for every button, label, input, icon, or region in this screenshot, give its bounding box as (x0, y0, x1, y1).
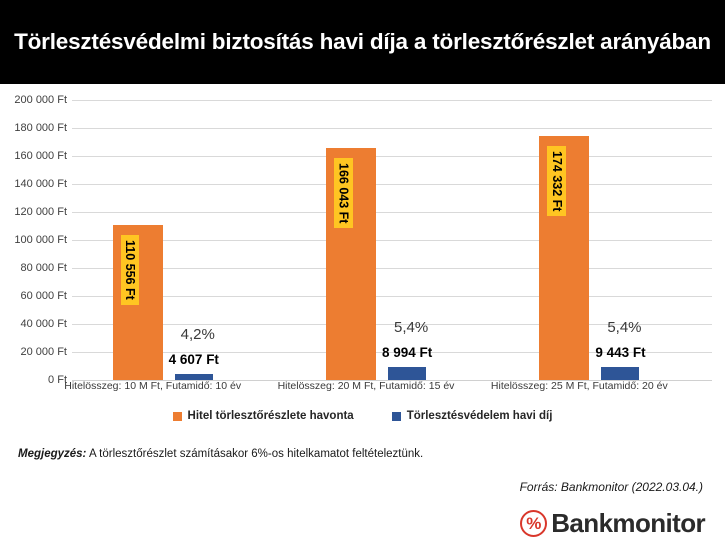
chart-header-band: Törlesztésvédelmi biztosítás havi díja a… (0, 0, 725, 84)
logo-wordmark: Bankmonitor (551, 508, 705, 539)
y-axis: 200 000 Ft180 000 Ft160 000 Ft140 000 Ft… (0, 84, 72, 396)
y-axis-tick-label: 80 000 Ft (21, 262, 67, 274)
y-axis-tick-label: 100 000 Ft (14, 234, 67, 246)
note-text: A törlesztőrészlet számításakor 6%-os hi… (86, 448, 423, 460)
secondary-value-label: 8 994 Ft (382, 345, 432, 360)
source-line: Forrás: Bankmonitor (2022.03.04.) (520, 480, 703, 494)
ratio-annotation: 5,4% (394, 319, 428, 336)
ratio-annotation: 5,4% (607, 319, 641, 336)
y-axis-tick-label: 60 000 Ft (21, 290, 67, 302)
gridline (72, 268, 712, 269)
category-axis-label: Hitelösszeg: 20 M Ft, Futamidő: 15 év (278, 380, 455, 392)
y-axis-tick-label: 160 000 Ft (14, 150, 67, 162)
gridline (72, 156, 712, 157)
percent-icon: % (520, 510, 547, 537)
y-axis-tick-label: 20 000 Ft (21, 346, 67, 358)
category-axis-label: Hitelösszeg: 10 M Ft, Futamidő: 10 év (64, 380, 241, 392)
y-axis-tick-label: 120 000 Ft (14, 206, 67, 218)
chart-legend: Hitel törlesztőrészlete havontaTörleszté… (0, 410, 725, 422)
legend-label: Törlesztésvédelem havi díj (407, 410, 553, 422)
bar-value-badge: 166 043 Ft (334, 158, 353, 228)
bankmonitor-logo: % Bankmonitor (520, 508, 705, 539)
category-axis: Hitelösszeg: 10 M Ft, Futamidő: 10 évHit… (0, 380, 725, 400)
chart-title: Törlesztésvédelmi biztosítás havi díja a… (14, 29, 711, 55)
gridline (72, 100, 712, 101)
y-axis-tick-label: 40 000 Ft (21, 318, 67, 330)
plot-area: 110 556 Ft4 607 Ft4,2%166 043 Ft8 994 Ft… (72, 84, 712, 396)
gridline (72, 128, 712, 129)
secondary-value-label: 9 443 Ft (595, 345, 645, 360)
bar-value-badge: 174 332 Ft (547, 146, 566, 216)
chart-plot-region: 200 000 Ft180 000 Ft160 000 Ft140 000 Ft… (0, 84, 725, 396)
gridline (72, 212, 712, 213)
legend-label: Hitel törlesztőrészlete havonta (188, 410, 354, 422)
gridline (72, 296, 712, 297)
gridline (72, 184, 712, 185)
note-row: Megjegyzés: A törlesztőrészlet számítása… (18, 448, 708, 460)
note-label: Megjegyzés: (18, 448, 86, 460)
bar-secondary[interactable] (601, 367, 639, 380)
bar-value-badge: 110 556 Ft (121, 235, 140, 305)
category-axis-label: Hitelösszeg: 25 M Ft, Futamidő: 20 év (491, 380, 668, 392)
y-axis-tick-label: 200 000 Ft (14, 94, 67, 106)
secondary-value-label: 4 607 Ft (169, 352, 219, 367)
legend-swatch-icon (392, 412, 401, 421)
bar-secondary[interactable] (388, 367, 426, 380)
legend-swatch-icon (173, 412, 182, 421)
legend-entry[interactable]: Hitel törlesztőrészlete havonta (173, 410, 354, 422)
y-axis-tick-label: 180 000 Ft (14, 122, 67, 134)
gridline (72, 240, 712, 241)
legend-entry[interactable]: Törlesztésvédelem havi díj (392, 410, 553, 422)
ratio-annotation: 4,2% (181, 326, 215, 343)
y-axis-tick-label: 140 000 Ft (14, 178, 67, 190)
